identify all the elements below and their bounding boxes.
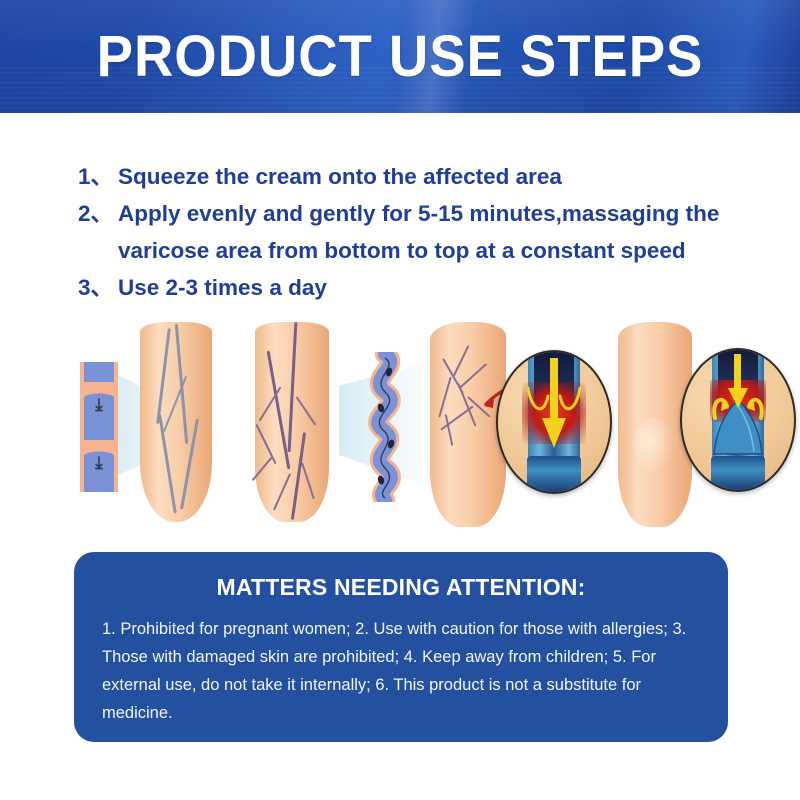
page-title: PRODUCT USE STEPS xyxy=(24,0,776,113)
vessel-lower-blue-healthy xyxy=(711,456,765,490)
illustration-strip: ⤓ ⤓ xyxy=(62,322,782,532)
blood-flow-arrow-2: ⤓ xyxy=(95,454,103,471)
illustration-panel-healthy-valve xyxy=(612,322,800,532)
illustration-panel-healthy-vein: ⤓ ⤓ xyxy=(62,322,247,532)
step-item-2: 2、 Apply evenly and gently for 5-15 minu… xyxy=(78,195,758,269)
step-item-3: 3、 Use 2-3 times a day xyxy=(78,269,758,306)
attention-box: MATTERS NEEDING ATTENTION: 1. Prohibited… xyxy=(74,552,728,742)
step-item-1: 1、 Squeeze the cream onto the affected a… xyxy=(78,158,758,195)
step-text-1: Squeeze the cream onto the affected area xyxy=(118,158,758,195)
step-text-2-line-1: Apply evenly and gently for 5-15 minutes… xyxy=(118,195,758,232)
vein-cross-section-healthy: ⤓ ⤓ xyxy=(80,362,118,492)
inset-damaged-valve xyxy=(496,350,612,494)
usage-steps-list: 1、 Squeeze the cream onto the affected a… xyxy=(78,158,758,306)
blood-flow-arrow-1: ⤓ xyxy=(95,396,103,413)
step-text-2-line-2: varicose area from bottom to top at a co… xyxy=(118,232,758,269)
step-text-3: Use 2-3 times a day xyxy=(118,269,758,306)
vessel-lower-blue xyxy=(527,456,581,492)
step-text-2: Apply evenly and gently for 5-15 minutes… xyxy=(118,195,758,269)
valve-closing-arrows xyxy=(707,388,769,422)
leg-spider-veins-3 xyxy=(430,322,506,527)
backflow-arrow-down xyxy=(541,358,567,450)
leg-healthy-1 xyxy=(140,322,212,522)
twisted-vein-magnified xyxy=(355,352,417,502)
illustration-panel-damaged-valve xyxy=(422,322,612,532)
page-header: PRODUCT USE STEPS xyxy=(0,0,800,113)
inset-healthy-valve xyxy=(680,348,796,492)
knee-highlight-4 xyxy=(634,418,674,474)
attention-body: 1. Prohibited for pregnant women; 2. Use… xyxy=(102,615,700,727)
step-number-3: 3、 xyxy=(78,269,118,306)
illustration-panel-varicose-vein xyxy=(247,322,422,532)
step-number-2: 2、 xyxy=(78,195,118,232)
step-number-1: 1、 xyxy=(78,158,118,195)
attention-title: MATTERS NEEDING ATTENTION: xyxy=(102,574,700,601)
